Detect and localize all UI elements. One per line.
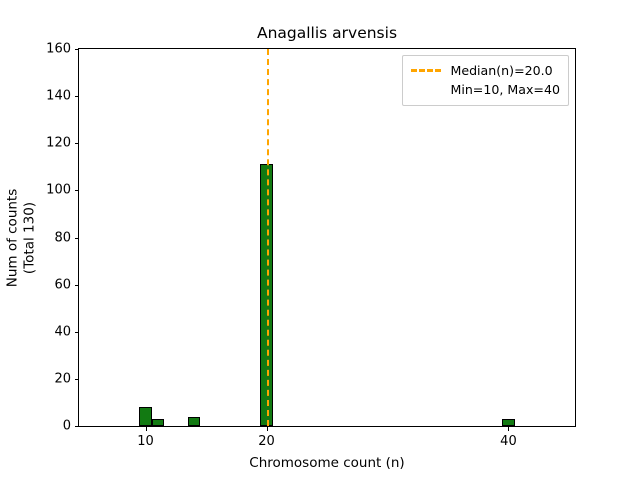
chart-figure: Anagallis arvensis Num of counts (Total …	[0, 0, 640, 480]
y-axis-tick	[75, 285, 80, 286]
y-axis-label-line2: (Total 130)	[21, 188, 38, 287]
x-axis-tick-label: 40	[500, 434, 517, 449]
y-axis-tick	[75, 332, 80, 333]
y-axis-tick-label: 160	[46, 42, 71, 57]
y-axis-tick-label: 100	[46, 183, 71, 198]
y-axis-tick-label: 60	[54, 277, 71, 292]
x-axis-tick	[267, 426, 268, 431]
y-axis-tick	[75, 426, 80, 427]
y-axis-tick-label: 140	[46, 89, 71, 104]
y-axis-tick	[75, 238, 80, 239]
y-axis-tick-label: 0	[63, 419, 71, 434]
x-axis-tick-label: 20	[258, 434, 275, 449]
y-axis-tick-label: 20	[54, 371, 71, 386]
y-axis-tick	[75, 379, 80, 380]
y-axis-tick	[75, 49, 80, 50]
plot-area: 020406080100120140160 102040 Median(n)=2…	[78, 48, 576, 427]
median-line	[267, 49, 269, 426]
y-axis-tick-label: 40	[54, 324, 71, 339]
legend-label-median: Median(n)=20.0	[450, 63, 552, 78]
y-axis-tick	[75, 96, 80, 97]
y-axis-tick-label: 80	[54, 230, 71, 245]
legend: Median(n)=20.0 Min=10, Max=40	[402, 55, 569, 106]
chart-title: Anagallis arvensis	[78, 24, 576, 42]
y-axis-tick-label: 120	[46, 136, 71, 151]
legend-label-minmax: Min=10, Max=40	[450, 82, 560, 97]
x-axis-label: Chromosome count (n)	[78, 455, 576, 471]
x-axis-tick	[146, 426, 147, 431]
legend-entry-minmax: Min=10, Max=40	[411, 80, 560, 99]
y-axis-tick	[75, 190, 80, 191]
y-axis-label-line1: Num of counts	[4, 188, 21, 287]
y-axis-label: Num of counts (Total 130)	[0, 48, 42, 427]
dashed-line-icon	[411, 69, 441, 72]
x-axis-tick	[508, 426, 509, 431]
x-axis-tick-label: 10	[137, 434, 154, 449]
legend-entry-median: Median(n)=20.0	[411, 61, 560, 80]
y-axis-tick	[75, 143, 80, 144]
